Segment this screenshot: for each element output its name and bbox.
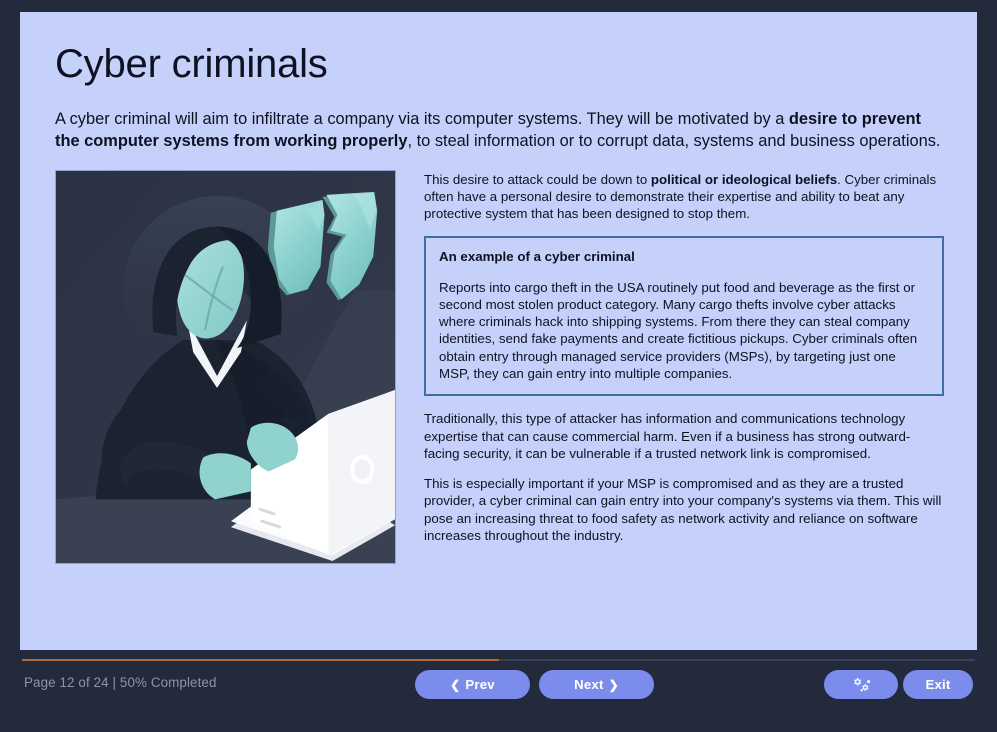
para1-bold: political or ideological beliefs	[651, 172, 837, 187]
next-button[interactable]: Next ❯	[539, 670, 654, 699]
para1-part1: This desire to attack could be down to	[424, 172, 651, 187]
illustration-svg	[56, 171, 395, 563]
cogs-icon	[852, 677, 871, 693]
player-footer: Page 12 of 24 | 50% Completed ❮ Prev Nex…	[0, 650, 997, 732]
paragraph-traditional-attacker: Traditionally, this type of attacker has…	[424, 410, 944, 462]
progress-bar-track[interactable]	[22, 659, 975, 661]
example-heading: An example of a cyber criminal	[439, 249, 929, 264]
page-title: Cyber criminals	[55, 42, 944, 87]
prev-button-label: Prev	[465, 677, 494, 692]
settings-button[interactable]	[824, 670, 898, 699]
slide-panel: Cyber criminals A cyber criminal will ai…	[20, 12, 977, 650]
progress-bar-fill	[22, 659, 499, 661]
paragraph-msp-compromise: This is especially important if your MSP…	[424, 475, 944, 544]
right-column: This desire to attack could be down to p…	[424, 170, 944, 545]
paragraph-political-beliefs: This desire to attack could be down to p…	[424, 171, 944, 223]
exit-button-label: Exit	[926, 677, 951, 692]
page-status-label: Page 12 of 24 | 50% Completed	[24, 675, 217, 690]
intro-text-part1: A cyber criminal will aim to infiltrate …	[55, 110, 789, 128]
next-button-label: Next	[574, 677, 603, 692]
prev-button[interactable]: ❮ Prev	[415, 670, 530, 699]
cyber-criminal-illustration	[55, 170, 396, 564]
laptop-logo-inner	[354, 459, 370, 479]
chevron-right-icon: ❯	[609, 679, 619, 691]
course-player: Cyber criminals A cyber criminal will ai…	[0, 0, 997, 732]
chevron-left-icon: ❮	[450, 679, 460, 691]
intro-text-part2: , to steal information or to corrupt dat…	[407, 132, 940, 150]
left-hand	[200, 453, 251, 499]
content-columns: This desire to attack could be down to p…	[55, 170, 944, 564]
example-body-text: Reports into cargo theft in the USA rout…	[439, 279, 929, 383]
intro-paragraph: A cyber criminal will aim to infiltrate …	[55, 109, 944, 153]
example-callout-box: An example of a cyber criminal Reports i…	[424, 236, 944, 397]
exit-button[interactable]: Exit	[903, 670, 973, 699]
